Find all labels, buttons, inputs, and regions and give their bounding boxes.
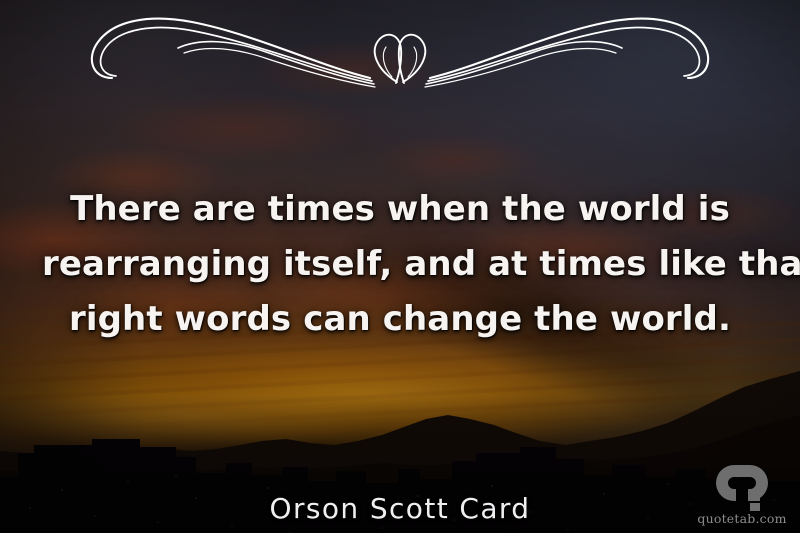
quotetab-logo-icon <box>716 465 768 511</box>
watermark[interactable]: quotetab.com <box>698 465 786 526</box>
content-layer: There are times when the world is rearra… <box>0 0 800 533</box>
watermark-text: quotetab.com <box>697 513 786 526</box>
quote-line-2: rearranging itself, and at times like th… <box>42 237 758 292</box>
quote-line-3: right words can change the world. <box>42 292 758 347</box>
quote-card: There are times when the world is rearra… <box>0 0 800 533</box>
flourish-ornament-icon <box>70 8 730 104</box>
author-name: Orson Scott Card <box>0 492 800 525</box>
quote-text: There are times when the world is rearra… <box>0 182 800 347</box>
quote-line-1: There are times when the world is <box>42 182 758 237</box>
